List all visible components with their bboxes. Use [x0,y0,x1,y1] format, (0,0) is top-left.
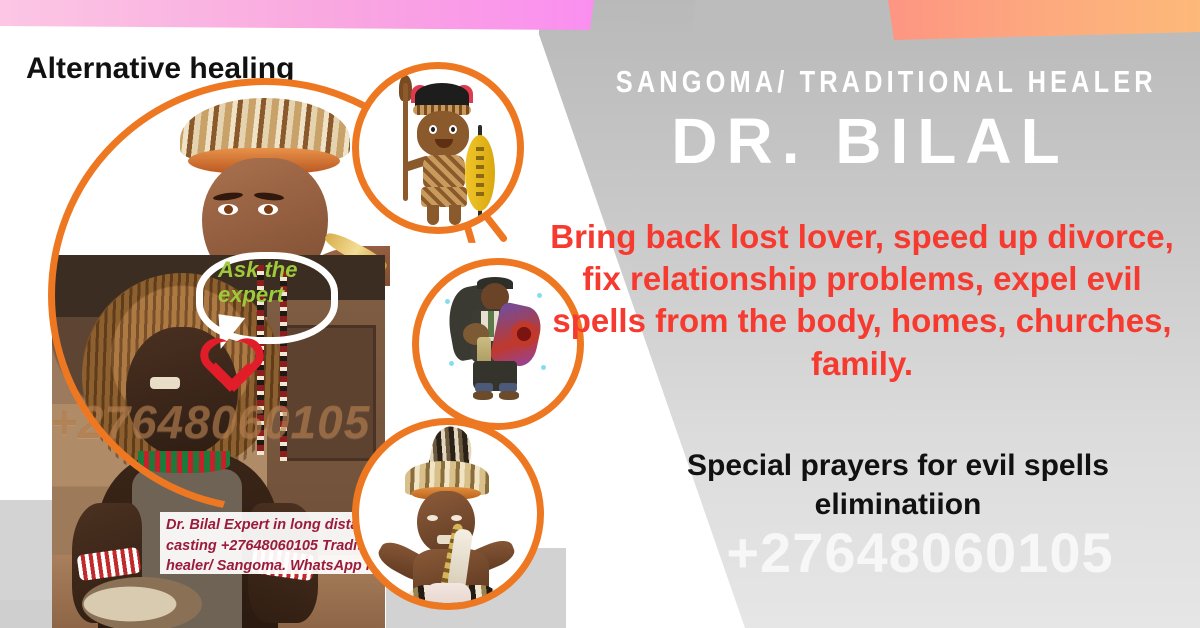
caption-line-3: healer/ Sangoma. WhatsApp n [166,556,394,574]
cartoon-leg-right [449,205,461,225]
healer-sandal-left [473,391,493,400]
cartoon-leg-left [427,205,439,225]
poster-canvas: Alternative healing +27648060105 A [0,0,1200,628]
healer-emblem-icon [511,321,537,347]
cartoon-torso [423,155,465,191]
cartoon-eye-left [429,125,437,134]
phone-watermark: +27648060105 [640,520,1200,585]
special-prayers-text: Special prayers for evil spells eliminat… [610,446,1186,524]
warrior-eye-left [427,515,438,521]
sparkle-icon-1 [445,299,450,304]
spear-icon [403,83,408,201]
circle-crouching-warrior [352,418,544,610]
page-title: DR. BILAL [560,104,1180,178]
kicker-text: SANGOMA/ TRADITIONAL HEALER [616,64,1124,100]
cartoon-head [417,111,469,157]
cartoon-skirt [421,187,467,207]
shield-icon [465,135,495,211]
foreground-object [82,577,202,628]
warrior-eye-right [451,515,462,521]
pink-accent-strip [0,0,600,30]
services-red-text: Bring back lost lover, speed up divorce,… [538,216,1186,385]
circle-zulu-warrior-cartoon [352,62,524,234]
healer-sandal-right [499,391,519,400]
cartoon-eye-right [449,125,457,134]
sparkle-icon-3 [449,361,454,366]
warrior-cloth [425,583,471,610]
